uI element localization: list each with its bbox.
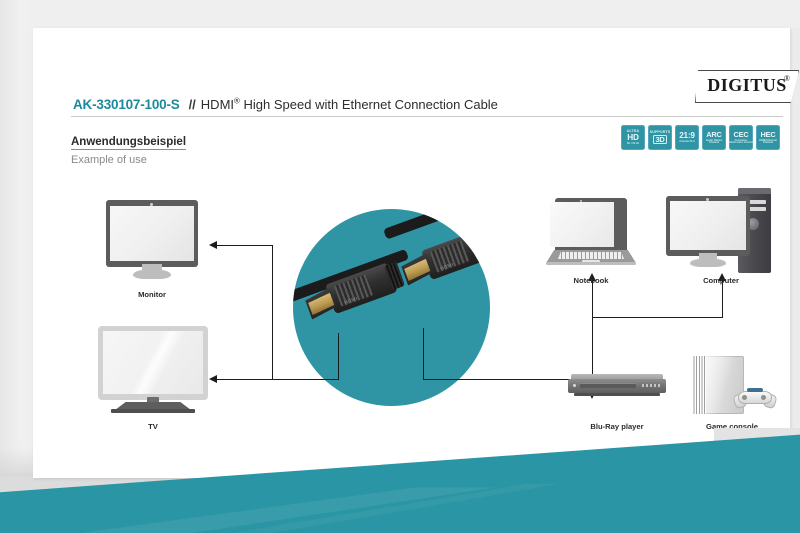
label-tv: TV bbox=[98, 422, 208, 431]
device-game-console bbox=[686, 356, 778, 418]
label-notebook: Notebook bbox=[546, 276, 636, 285]
bluray-power-led-icon bbox=[573, 384, 576, 387]
device-bluray-player bbox=[568, 374, 666, 400]
label-bluray-player: Blu-Ray player bbox=[568, 422, 666, 431]
logo-registered-mark: ® bbox=[784, 74, 790, 83]
badge-arc: ARC Audio Return Channel bbox=[702, 125, 726, 150]
badge-bottom-text: HDMI Ethernet Channel bbox=[756, 140, 780, 145]
product-sheet-page: DIGITUS ® AK-330107-100-S//HDMI® High Sp… bbox=[0, 0, 800, 533]
line-to-computer-vertical bbox=[722, 280, 723, 318]
arrow-to-tv bbox=[209, 375, 217, 383]
badge-main-text: ARC bbox=[706, 131, 721, 138]
monitor-webcam-icon bbox=[150, 203, 153, 206]
notebook-shadow bbox=[546, 262, 636, 265]
badge-top-text: SUPPORTS bbox=[650, 131, 671, 135]
notebook-keyboard bbox=[558, 252, 624, 259]
line-left-connector-drop bbox=[338, 333, 339, 380]
label-computer: Computer bbox=[666, 276, 776, 285]
product-title-row: AK-330107-100-S//HDMI® High Speed with E… bbox=[73, 96, 498, 114]
feature-badges: ULTRA HD 4K / 60 Hz SUPPORTS 3D 21:9 Cin… bbox=[621, 125, 780, 150]
badge-main-text: CEC bbox=[733, 131, 748, 138]
tv-stand-foot bbox=[111, 409, 195, 413]
line-left-to-monitor bbox=[216, 245, 273, 246]
title-divider bbox=[71, 116, 783, 117]
badge-bottom-text: Audio Return Channel bbox=[702, 140, 726, 145]
line-left-vertical bbox=[272, 245, 273, 380]
bluray-control-panel bbox=[642, 384, 660, 387]
badge-bottom-text: Consumer Electronics Control bbox=[729, 140, 753, 145]
notebook-screen bbox=[550, 202, 614, 247]
computer-stand-base bbox=[690, 259, 726, 267]
line-left-to-tv bbox=[216, 379, 273, 380]
device-tv bbox=[98, 326, 208, 418]
badge-bottom-text: 4K / 60 Hz bbox=[627, 143, 639, 146]
title-separator: // bbox=[189, 97, 196, 112]
page-edge-top bbox=[0, 0, 800, 28]
gamepad-right-stick-icon bbox=[761, 395, 766, 400]
section-title-de: Anwendungsbeispiel bbox=[71, 136, 186, 150]
bluray-base bbox=[574, 393, 660, 396]
product-description-pre: HDMI bbox=[201, 97, 234, 112]
badge-main-text: HD bbox=[627, 134, 638, 142]
badge-main-text: HEC bbox=[760, 131, 775, 138]
arrow-to-monitor bbox=[209, 241, 217, 249]
device-notebook bbox=[546, 198, 636, 273]
label-monitor: Monitor bbox=[106, 290, 198, 299]
computer-tower-top bbox=[738, 188, 771, 194]
product-sku: AK-330107-100-S bbox=[73, 97, 180, 112]
hdmi-cable-illustration: HDMI HDMI bbox=[293, 209, 490, 406]
console-vent-fins bbox=[692, 356, 706, 414]
monitor-screen bbox=[110, 206, 194, 261]
label-game-console: Game console bbox=[686, 422, 778, 431]
page-edge-bottom bbox=[0, 473, 800, 533]
product-description: HDMI® High Speed with Ethernet Connectio… bbox=[201, 97, 498, 112]
badge-top-text: ULTRA bbox=[627, 130, 639, 134]
gamepad-light-bar bbox=[747, 388, 763, 392]
device-computer bbox=[666, 188, 776, 276]
badge-hec: HEC HDMI Ethernet Channel bbox=[756, 125, 780, 150]
badge-bottom-text: Cinema 21:9 bbox=[679, 141, 694, 144]
line-to-computer-horizontal bbox=[592, 317, 723, 318]
application-diagram: HDMI HDMI bbox=[66, 178, 800, 478]
tv-screen-glare bbox=[103, 331, 203, 394]
badge-21-9: 21:9 Cinema 21:9 bbox=[675, 125, 699, 150]
computer-monitor-screen bbox=[670, 201, 746, 250]
digitus-logo: DIGITUS ® bbox=[695, 70, 799, 103]
badge-main-text: 3D bbox=[653, 135, 667, 144]
badge-cec: CEC Consumer Electronics Control bbox=[729, 125, 753, 150]
device-monitor bbox=[106, 200, 198, 286]
gamepad-left-stick-icon bbox=[742, 395, 747, 400]
bluray-disc-tray bbox=[580, 383, 636, 388]
document-card: DIGITUS ® AK-330107-100-S//HDMI® High Sp… bbox=[33, 28, 790, 478]
computer-webcam-icon bbox=[706, 198, 709, 201]
monitor-stand-base bbox=[133, 270, 171, 279]
section-title-en: Example of use bbox=[71, 154, 147, 166]
badge-3d: SUPPORTS 3D bbox=[648, 125, 672, 150]
line-left-connector-run bbox=[272, 379, 339, 380]
badge-ultra-hd: ULTRA HD 4K / 60 Hz bbox=[621, 125, 645, 150]
console-gamepad bbox=[734, 386, 776, 408]
line-right-connector-drop bbox=[423, 328, 424, 379]
product-description-post: High Speed with Ethernet Connection Cabl… bbox=[240, 97, 498, 112]
